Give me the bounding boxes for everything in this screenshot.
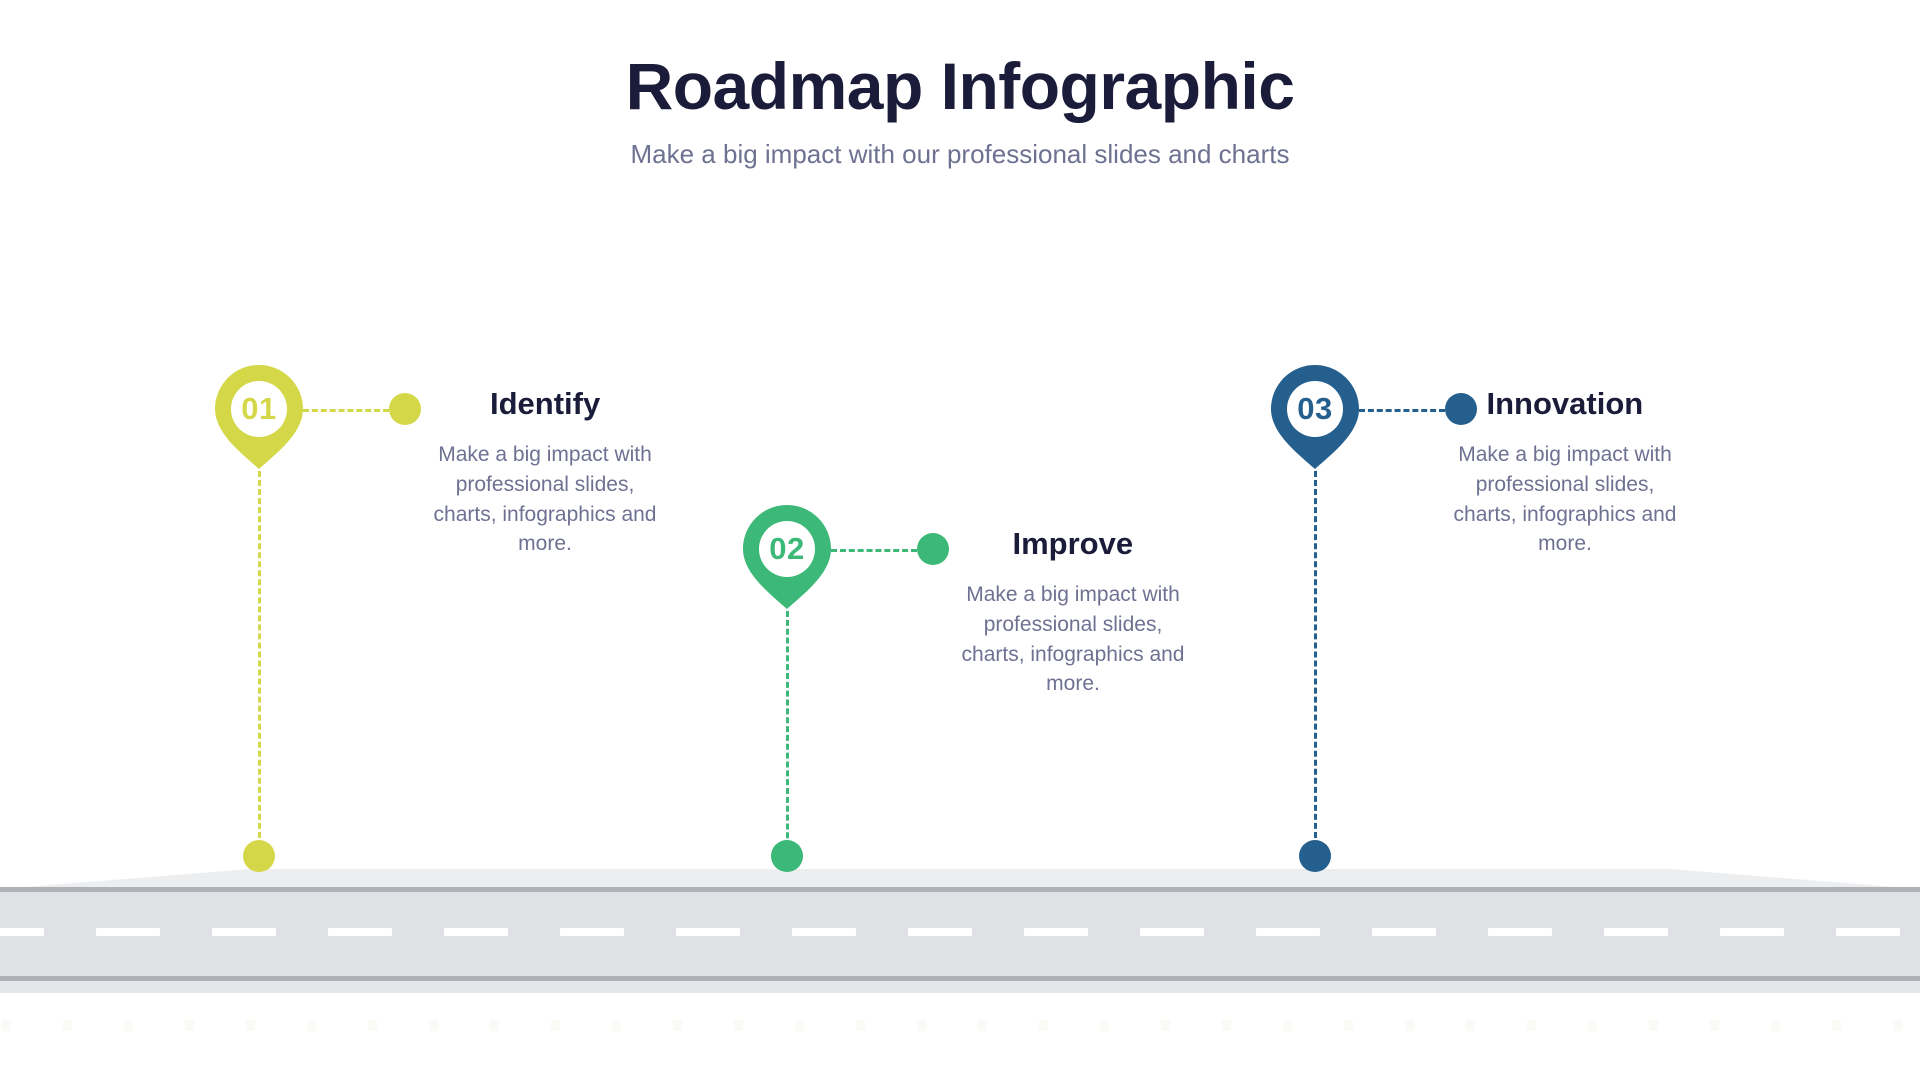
ground-tick — [1893, 1020, 1902, 1031]
ground-tick — [1649, 1020, 1658, 1031]
road-dash — [328, 928, 392, 936]
road-dash — [1024, 928, 1088, 936]
ground-tick — [551, 1020, 560, 1031]
ground-tick — [1527, 1020, 1536, 1031]
ground-tick — [673, 1020, 682, 1031]
ground-tick — [124, 1020, 133, 1031]
step-map-pin-icon[interactable]: 02 — [741, 503, 833, 611]
page-subtitle: Make a big impact with our professional … — [0, 139, 1920, 170]
road-dash — [1604, 928, 1668, 936]
ground-tick — [1283, 1020, 1292, 1031]
step-connector-line — [831, 549, 917, 552]
step-stem-line — [1314, 471, 1317, 856]
ground-tick — [1832, 1020, 1841, 1031]
ground-tick — [1771, 1020, 1780, 1031]
road-dash — [212, 928, 276, 936]
ground-tick — [490, 1020, 499, 1031]
step-stem-line — [786, 611, 789, 856]
road-graphic — [0, 869, 1920, 1004]
ground-tick — [2, 1020, 11, 1031]
step-map-pin-icon[interactable]: 01 — [213, 363, 305, 471]
page-title: Roadmap Infographic — [0, 52, 1920, 121]
ground-tick — [429, 1020, 438, 1031]
step-description: Make a big impact with professional slid… — [430, 440, 660, 559]
step-description: Make a big impact with professional slid… — [958, 580, 1188, 699]
roadmap-infographic-slide: Roadmap Infographic Make a big impact wi… — [0, 0, 1920, 1081]
step-heading: Improve — [1013, 528, 1134, 559]
road-dash — [1372, 928, 1436, 936]
ground-tick — [1588, 1020, 1597, 1031]
step-number: 01 — [213, 363, 305, 455]
ground-tick — [1039, 1020, 1048, 1031]
step-road-dot — [1299, 840, 1331, 872]
ground-tick — [1344, 1020, 1353, 1031]
ground-tick — [1100, 1020, 1109, 1031]
step-road-dot — [771, 840, 803, 872]
step-connector-line — [1359, 409, 1445, 412]
ground-tick — [246, 1020, 255, 1031]
ground-tick — [1466, 1020, 1475, 1031]
road-dash — [1256, 928, 1320, 936]
ground-tick — [978, 1020, 987, 1031]
header: Roadmap Infographic Make a big impact wi… — [0, 52, 1920, 170]
road-skirt — [0, 981, 1920, 993]
ground-tick — [1405, 1020, 1414, 1031]
road-dash — [908, 928, 972, 936]
ground-tick — [856, 1020, 865, 1031]
step-map-pin-icon[interactable]: 03 — [1269, 363, 1361, 471]
road-dash — [676, 928, 740, 936]
ground-tick — [307, 1020, 316, 1031]
ground-tick — [1710, 1020, 1719, 1031]
road-top-surface — [0, 869, 1920, 889]
step-stem-line — [258, 471, 261, 856]
step-connector-line — [303, 409, 389, 412]
ground-tick — [917, 1020, 926, 1031]
step-connector-dot — [389, 393, 421, 425]
road-dash — [444, 928, 508, 936]
step-road-dot — [243, 840, 275, 872]
step-heading: Identify — [490, 388, 600, 419]
road-dash — [560, 928, 624, 936]
road-dash — [0, 928, 44, 936]
road-dash — [792, 928, 856, 936]
road-dash — [1140, 928, 1204, 936]
step-heading: Innovation — [1487, 388, 1644, 419]
step-number: 02 — [741, 503, 833, 595]
step-description: Make a big impact with professional slid… — [1450, 440, 1680, 559]
ground-tick — [1161, 1020, 1170, 1031]
ground-texture — [0, 1020, 1920, 1034]
step-connector-dot — [1445, 393, 1477, 425]
ground-tick — [1222, 1020, 1231, 1031]
ground-tick — [612, 1020, 621, 1031]
road-dash — [96, 928, 160, 936]
ground-tick — [368, 1020, 377, 1031]
road-dash — [1720, 928, 1784, 936]
road-center-dashes — [0, 928, 1920, 936]
step-connector-dot — [917, 533, 949, 565]
ground-tick — [185, 1020, 194, 1031]
ground-tick — [795, 1020, 804, 1031]
ground-tick — [734, 1020, 743, 1031]
ground-tick — [63, 1020, 72, 1031]
step-number: 03 — [1269, 363, 1361, 455]
road-dash — [1836, 928, 1900, 936]
road-dash — [1488, 928, 1552, 936]
